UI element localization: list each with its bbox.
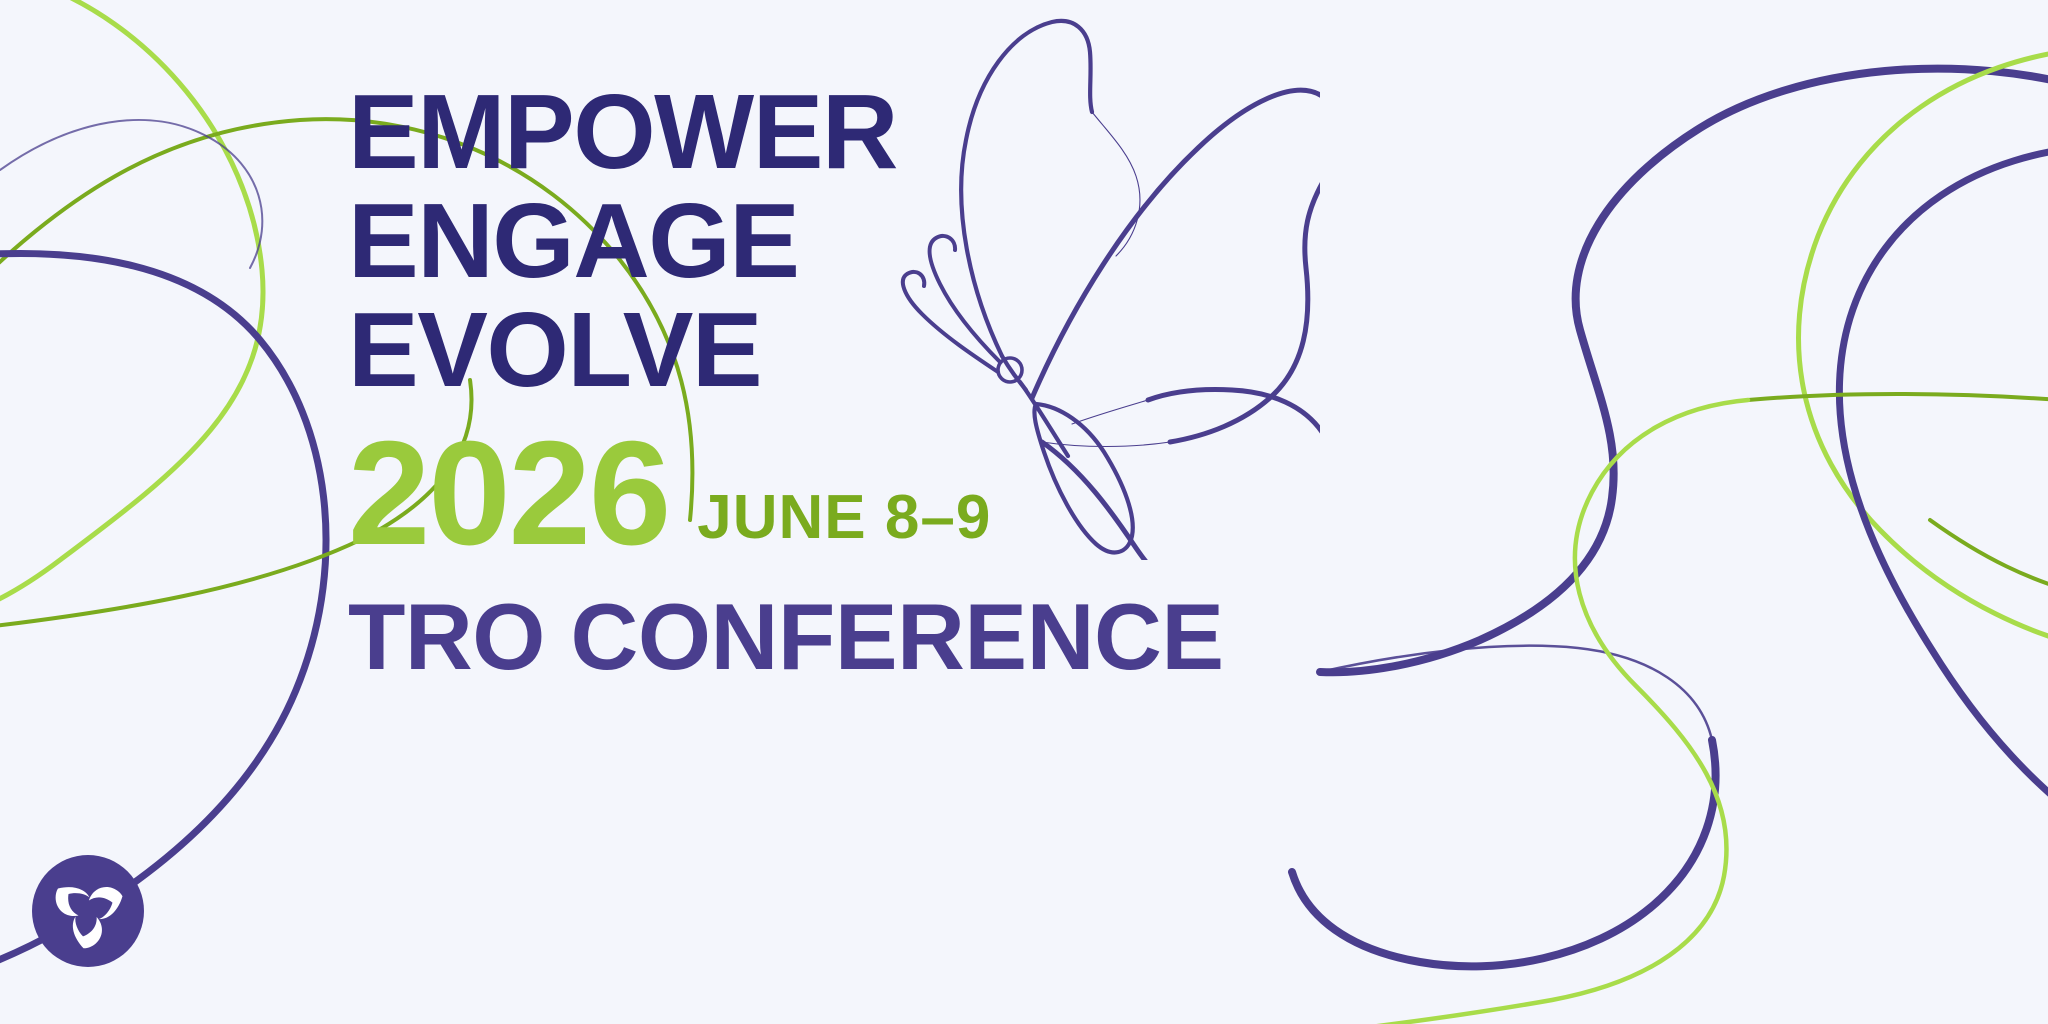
curve-purple-right-2 [1320,646,1712,740]
curve-green-right-1 [1799,48,2048,652]
headline-line-3: EVOLVE [348,296,1268,405]
headline-line-1: EMPOWER [348,78,1268,187]
curve-green-right-2 [1748,394,2048,400]
curve-purple-left-2 [0,120,262,268]
logo-circle [32,855,144,967]
curve-purple-right-1 [1320,69,2048,673]
headline-line-2: ENGAGE [348,187,1268,296]
event-year: 2026 [348,429,669,559]
event-date-row: 2026 JUNE 8–9 [348,429,1268,559]
trillium-logo [32,855,144,967]
event-dates: JUNE 8–9 [697,487,991,549]
conference-banner: EMPOWER ENGAGE EVOLVE 2026 JUNE 8–9 TRO … [0,0,2048,1024]
curve-green-right-4 [1930,520,2048,596]
conference-subtitle: TRO CONFERENCE [348,589,1268,685]
curve-purple-right-4 [1839,146,2048,824]
curve-green-left-1 [0,0,263,625]
headline-block: EMPOWER ENGAGE EVOLVE 2026 JUNE 8–9 TRO … [348,78,1268,685]
curve-purple-right-3 [1292,740,1716,966]
curve-green-right-3 [1330,400,1748,1024]
